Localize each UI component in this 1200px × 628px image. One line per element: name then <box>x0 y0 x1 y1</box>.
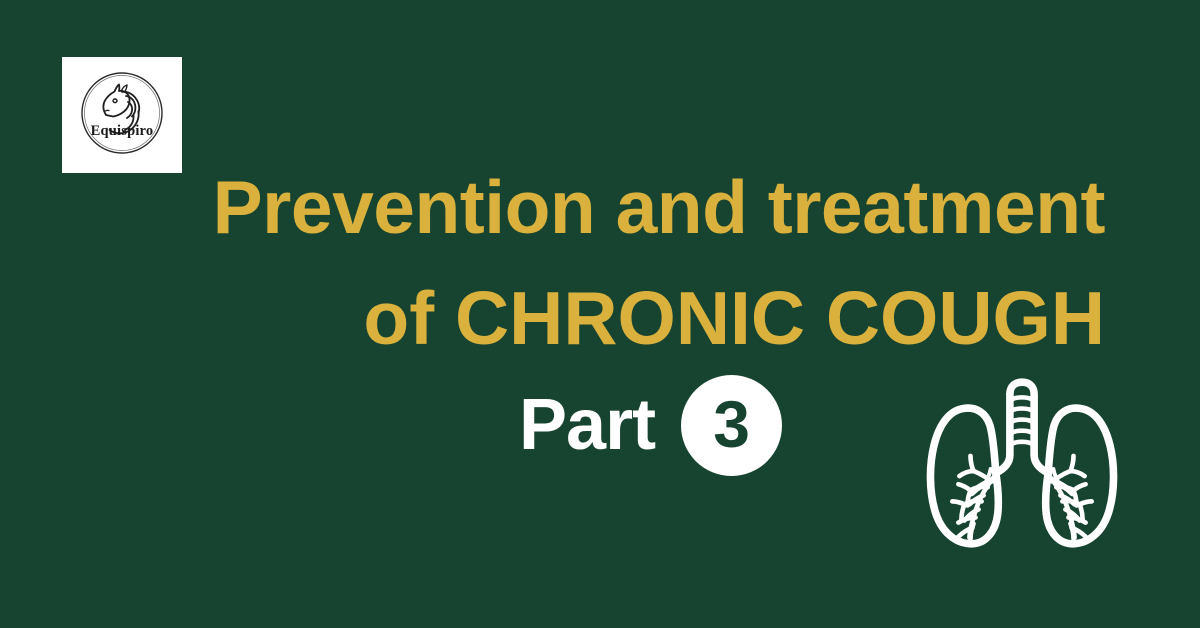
part-indicator: Part 3 <box>519 372 782 478</box>
headline-line-2: of CHRONIC COUGH <box>0 263 1105 374</box>
logo-wordmark: Equispiro <box>91 123 154 139</box>
lungs-icon <box>921 366 1123 560</box>
headline-line-1: Prevention and treatment <box>0 152 1105 263</box>
banner: Equispiro Prevention and treatment of CH… <box>0 0 1200 628</box>
equispiro-logo-icon: Equispiro <box>70 65 174 165</box>
part-label: Part <box>519 389 655 461</box>
part-number-badge: 3 <box>681 375 782 476</box>
page-title: Prevention and treatment of CHRONIC COUG… <box>0 152 1105 374</box>
part-number: 3 <box>713 391 750 457</box>
